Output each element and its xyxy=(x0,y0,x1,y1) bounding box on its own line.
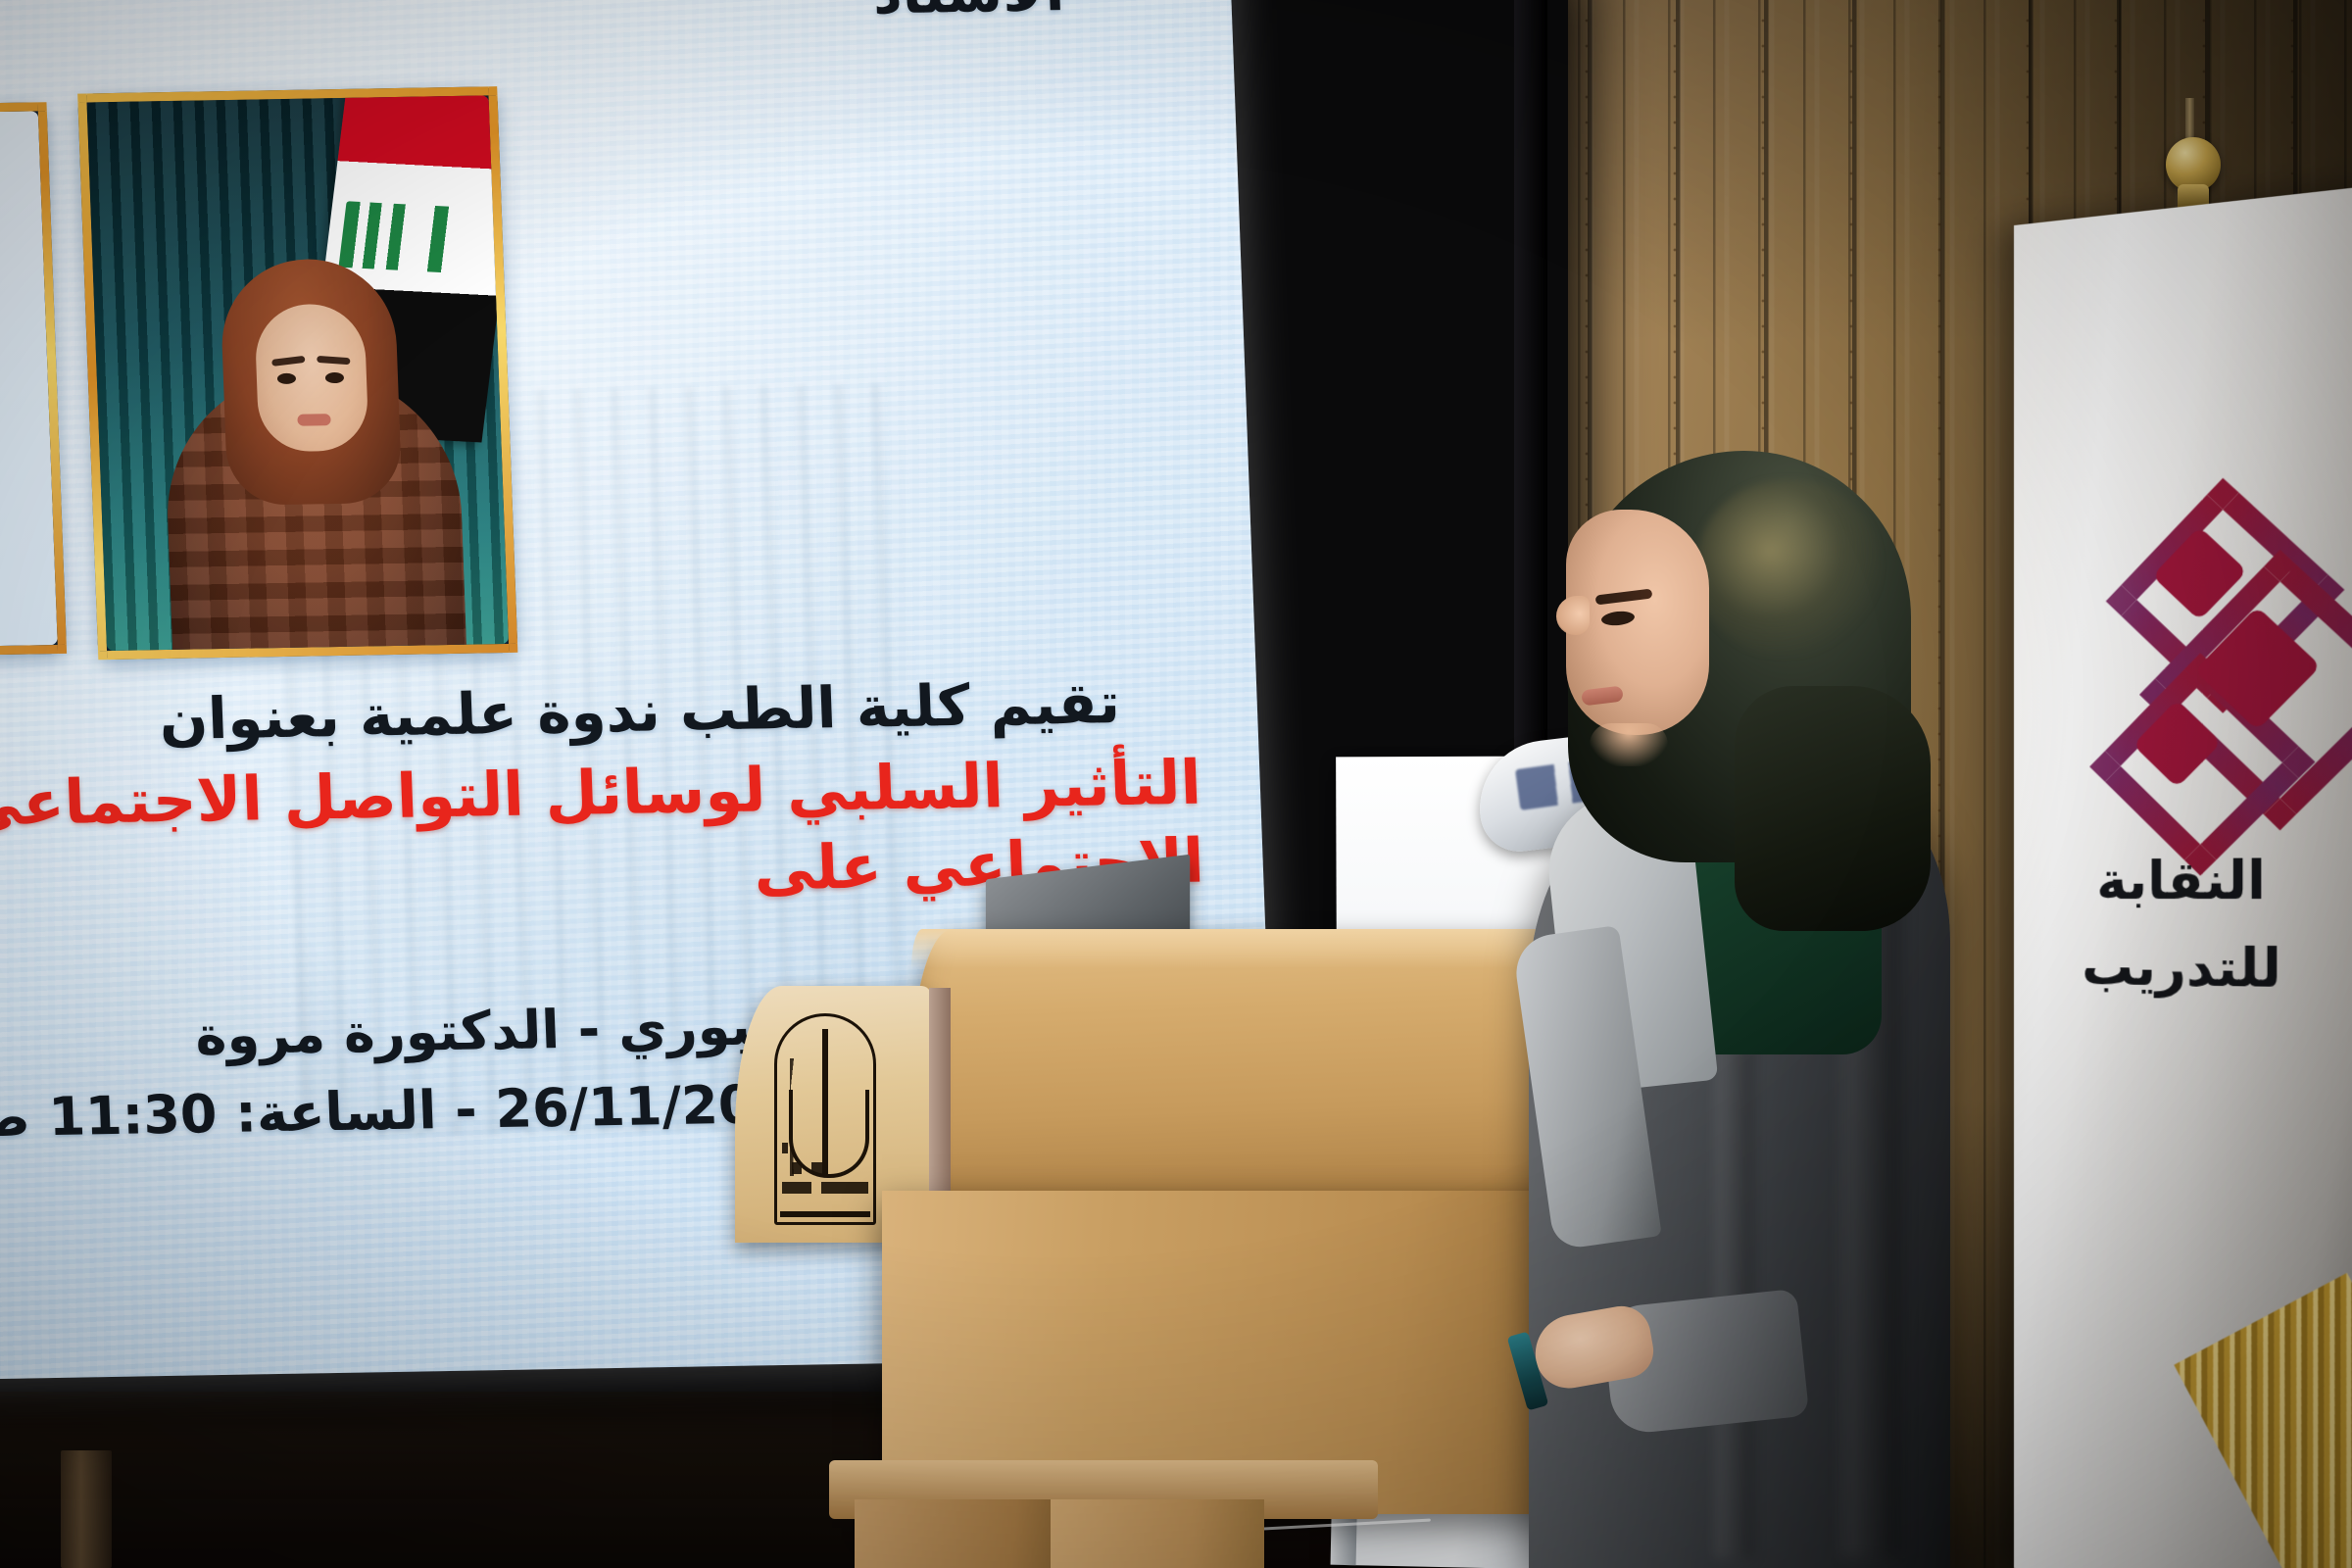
lecture-hall-scene: برعاية السيد رئيس جامعة الانبياء (ع وبإش… xyxy=(0,0,2352,1568)
speaker-nose xyxy=(1556,596,1590,635)
photo-person-brow-left xyxy=(271,356,306,367)
slide-photo-main xyxy=(77,86,517,660)
crest-baseline xyxy=(780,1211,870,1217)
speaker-lips xyxy=(1581,686,1624,707)
photo-person xyxy=(159,261,467,660)
wall-outlet xyxy=(61,1450,112,1568)
slide-photo-left xyxy=(0,102,67,660)
photo-person-brow-right xyxy=(317,356,350,365)
speaker-hijab-sheen xyxy=(1695,480,1882,657)
slide-line-3: الاستاذ xyxy=(871,0,1065,26)
photo-person-eye-right xyxy=(325,372,344,383)
speaker-eye xyxy=(1600,610,1635,626)
podium-column-right xyxy=(1039,1499,1264,1568)
speaker-eyebrow xyxy=(1595,589,1653,606)
speaker-hijab-drape xyxy=(1735,686,1931,931)
slide-photo-left-inner xyxy=(0,111,58,650)
crest-arabic-script xyxy=(782,1143,868,1200)
photo-person-eye-left xyxy=(277,373,296,384)
university-crest-icon xyxy=(774,1013,876,1225)
podium-column-left xyxy=(855,1499,1051,1568)
slide-line-5-highlight: التأثير السلبي لوسائل التواصل الاجتماعي xyxy=(0,747,1202,840)
speaker-chin xyxy=(1590,723,1668,766)
photo-person-lips xyxy=(297,414,330,426)
photo-person-face xyxy=(254,304,369,453)
speaker-person xyxy=(1548,470,1999,1568)
